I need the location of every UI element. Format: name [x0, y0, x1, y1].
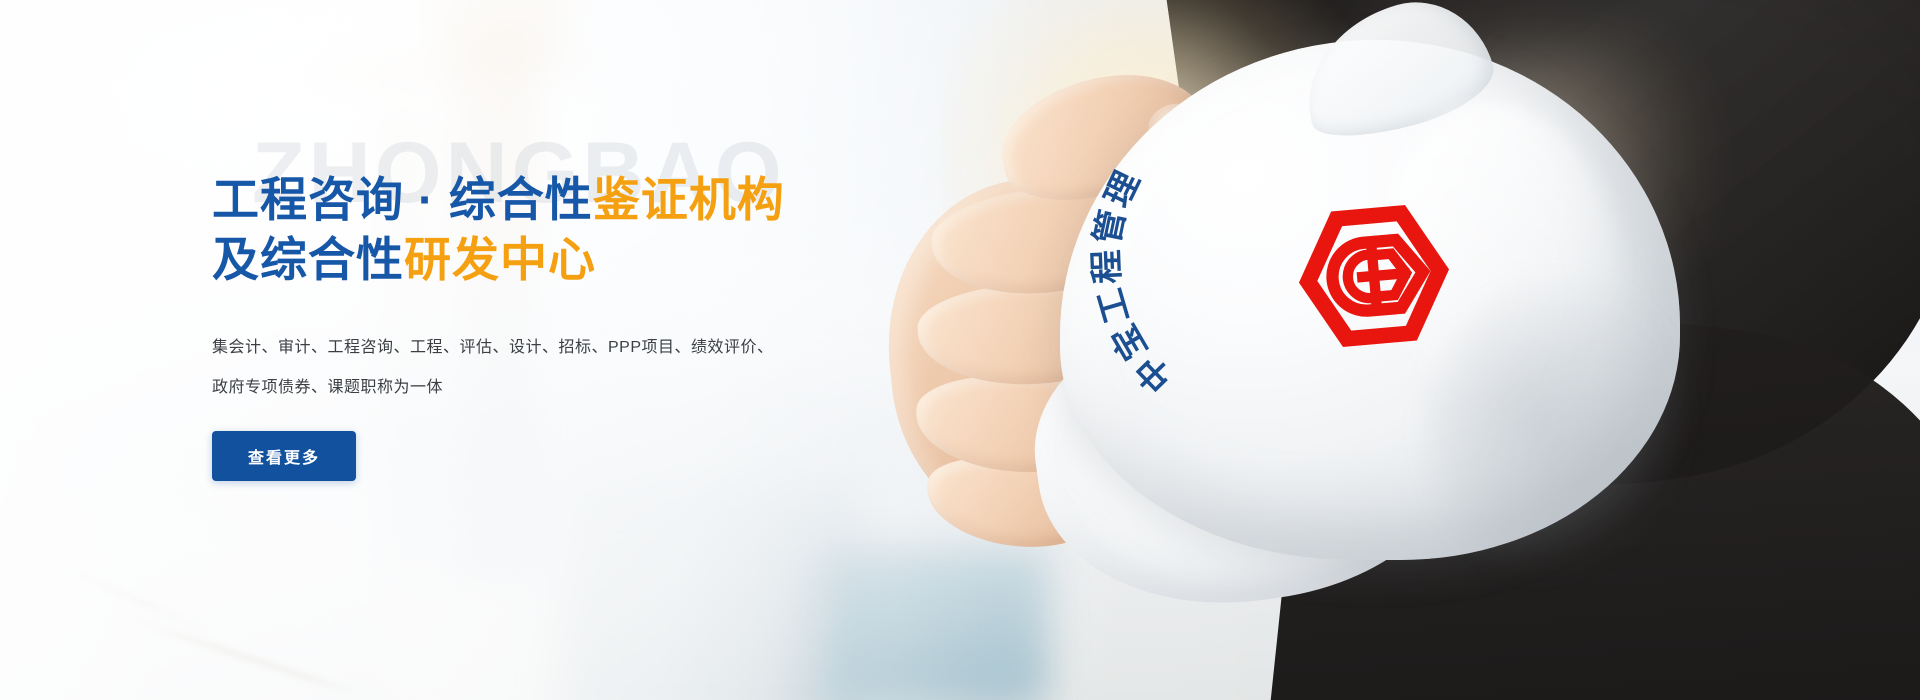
description-line-1: 集会计、审计、工程咨询、工程、评估、设计、招标、PPP项目、绩效评价、 — [212, 328, 812, 367]
headline-line-2: 及综合性研发中心 — [212, 230, 932, 290]
hero-content: ZHONGBAO 工程咨询 · 综合性鉴证机构 及综合性研发中心 集会计、审计、… — [212, 120, 932, 481]
hero-banner: 中宝工程管理 ZHONGBAO — [0, 0, 1920, 700]
view-more-button[interactable]: 查看更多 — [212, 431, 356, 481]
headline-line1-blue: 工程咨询 · 综合性 — [212, 173, 593, 226]
hero-description: 集会计、审计、工程咨询、工程、评估、设计、招标、PPP项目、绩效评价、 政府专项… — [212, 328, 812, 406]
hand-holding-helmet-photo: 中宝工程管理 — [820, 0, 1920, 700]
headline-line-1: 工程咨询 · 综合性鉴证机构 — [212, 170, 932, 230]
safety-helmet: 中宝工程管理 — [1000, 0, 1740, 680]
zhongbao-logo-icon — [1292, 202, 1455, 351]
page-title: 工程咨询 · 综合性鉴证机构 及综合性研发中心 — [212, 170, 932, 290]
headline-line1-orange: 鉴证机构 — [593, 173, 785, 226]
headline-line2-blue: 及综合性 — [212, 233, 404, 286]
headline-line2-orange: 研发中心 — [404, 233, 596, 286]
description-line-2: 政府专项债券、课题职称为一体 — [212, 368, 812, 407]
